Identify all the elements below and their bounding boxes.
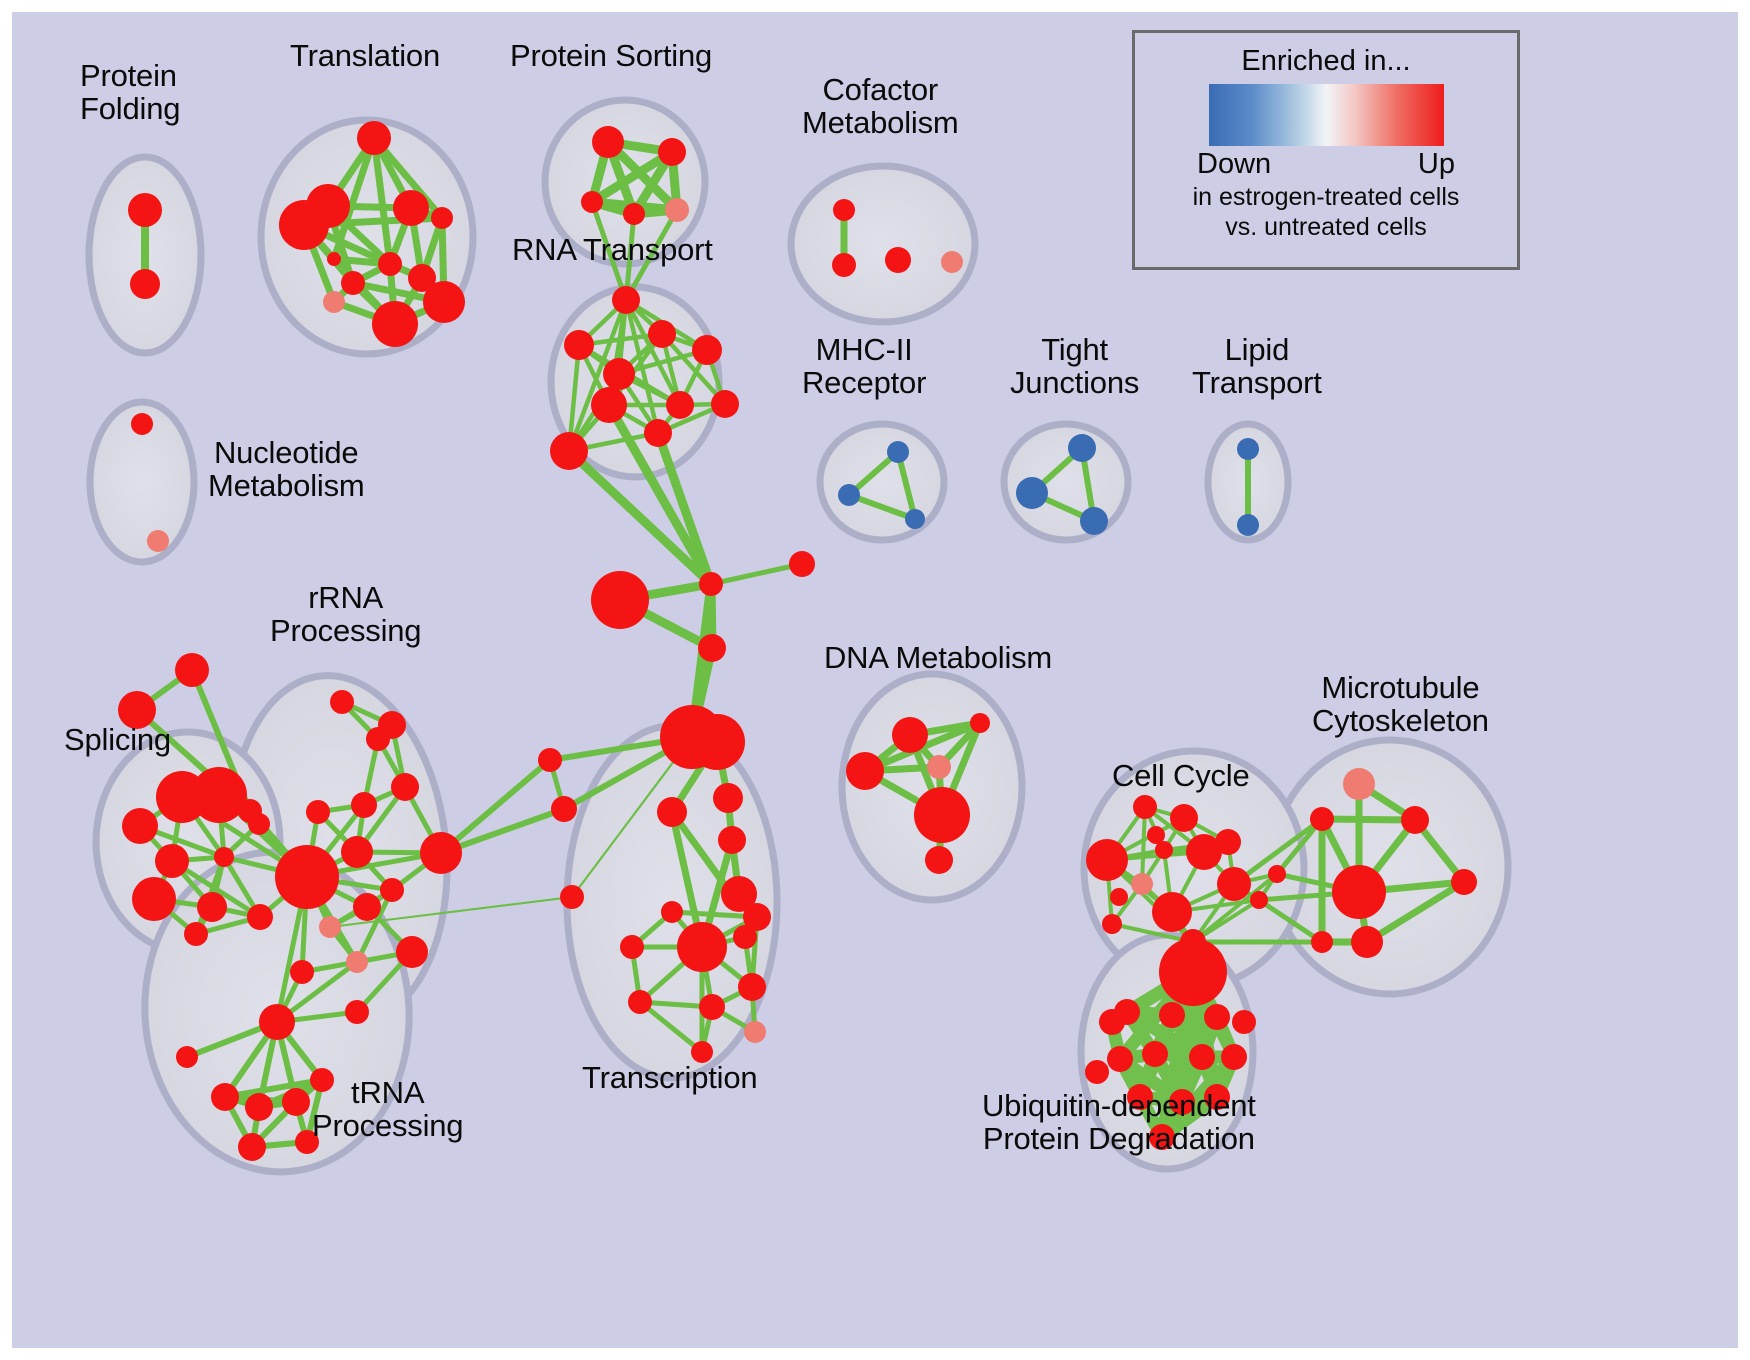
cluster-label-splicing: Splicing bbox=[64, 724, 171, 757]
cluster-label-transcription: Transcription bbox=[582, 1062, 757, 1095]
legend-caption-line2: vs. untreated cells bbox=[1225, 213, 1427, 241]
legend-low-label: Down bbox=[1197, 148, 1271, 181]
cluster-label-microtubule: Microtubule Cytoskeleton bbox=[1312, 672, 1489, 737]
figure-canvas: Protein Folding Translation Protein Sort… bbox=[0, 0, 1750, 1360]
cluster-label-ubiquitin: Ubiquitin-dependent Protein Degradation bbox=[982, 1090, 1256, 1155]
legend-title: Enriched in... bbox=[1241, 45, 1410, 78]
cluster-label-trna-processing: tRNA Processing bbox=[312, 1077, 463, 1142]
cluster-label-protein-folding: Protein Folding bbox=[80, 60, 180, 125]
cluster-label-protein-sorting: Protein Sorting bbox=[510, 40, 712, 73]
hull-cofactor-metabolism bbox=[791, 166, 975, 322]
cluster-label-tight-junctions: Tight Junctions bbox=[1010, 334, 1139, 399]
cluster-label-nucleotide-metabolism: Nucleotide Metabolism bbox=[208, 437, 365, 502]
cluster-label-cofactor-metabolism: Cofactor Metabolism bbox=[802, 74, 959, 139]
legend-caption-line1: in estrogen-treated cells bbox=[1193, 183, 1460, 211]
legend-high-label: Up bbox=[1418, 148, 1455, 181]
hull-mhc-ii-receptor bbox=[820, 424, 944, 540]
legend-endpoints: Down Up bbox=[1197, 148, 1455, 181]
cluster-label-dna-metabolism: DNA Metabolism bbox=[824, 642, 1052, 675]
cluster-label-rna-transport: RNA Transport bbox=[512, 234, 713, 267]
cluster-label-cell-cycle: Cell Cycle bbox=[1112, 760, 1250, 793]
legend-colorbar bbox=[1209, 84, 1444, 146]
cluster-label-mhc-ii-receptor: MHC-II Receptor bbox=[802, 334, 926, 399]
network-plot-area: Protein Folding Translation Protein Sort… bbox=[12, 12, 1738, 1348]
cluster-label-rrna-processing: rRNA Processing bbox=[270, 582, 421, 647]
cluster-label-translation: Translation bbox=[290, 40, 440, 73]
legend-box: Enriched in... Down Up in estrogen-treat… bbox=[1132, 30, 1520, 270]
cluster-label-lipid-transport: Lipid Transport bbox=[1192, 334, 1322, 399]
